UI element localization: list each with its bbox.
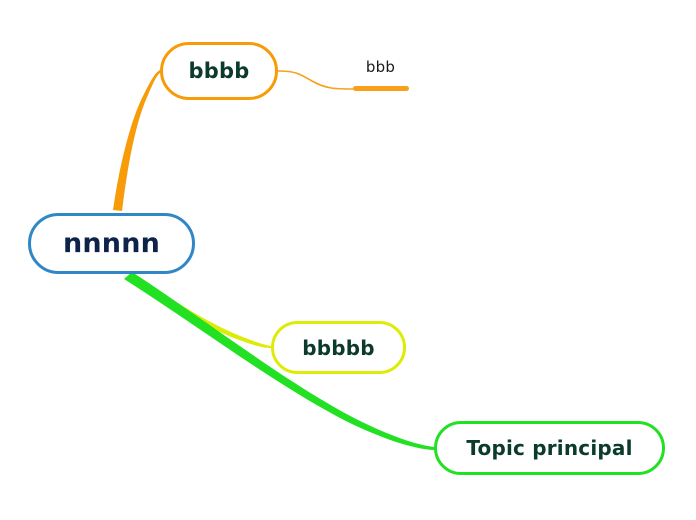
mindmap-node-topic-principal[interactable]: Topic principal bbox=[434, 421, 665, 475]
connector-bbbb-to-bbb bbox=[278, 71, 353, 89]
node-label-topic-principal: Topic principal bbox=[466, 436, 632, 460]
mindmap-node-bbbb[interactable]: bbbb bbox=[160, 42, 278, 100]
node-label-root: nnnnn bbox=[63, 228, 160, 259]
node-label-bbb: bbb bbox=[366, 58, 395, 76]
connector-root-to-bbbbb bbox=[130, 274, 271, 348]
node-underline-bbb bbox=[353, 86, 409, 91]
mindmap-node-root[interactable]: nnnnn bbox=[28, 213, 195, 274]
node-label-bbbb: bbbb bbox=[189, 59, 250, 83]
node-label-bbbbb: bbbbb bbox=[302, 336, 375, 360]
connector-root-to-bbbb bbox=[113, 70, 160, 211]
mindmap-canvas[interactable]: nnnnn bbbb bbb bbbbb Topic principal bbox=[0, 0, 696, 520]
mindmap-node-bbb[interactable]: bbb bbox=[352, 58, 409, 84]
mindmap-node-bbbbb[interactable]: bbbbb bbox=[271, 321, 406, 374]
